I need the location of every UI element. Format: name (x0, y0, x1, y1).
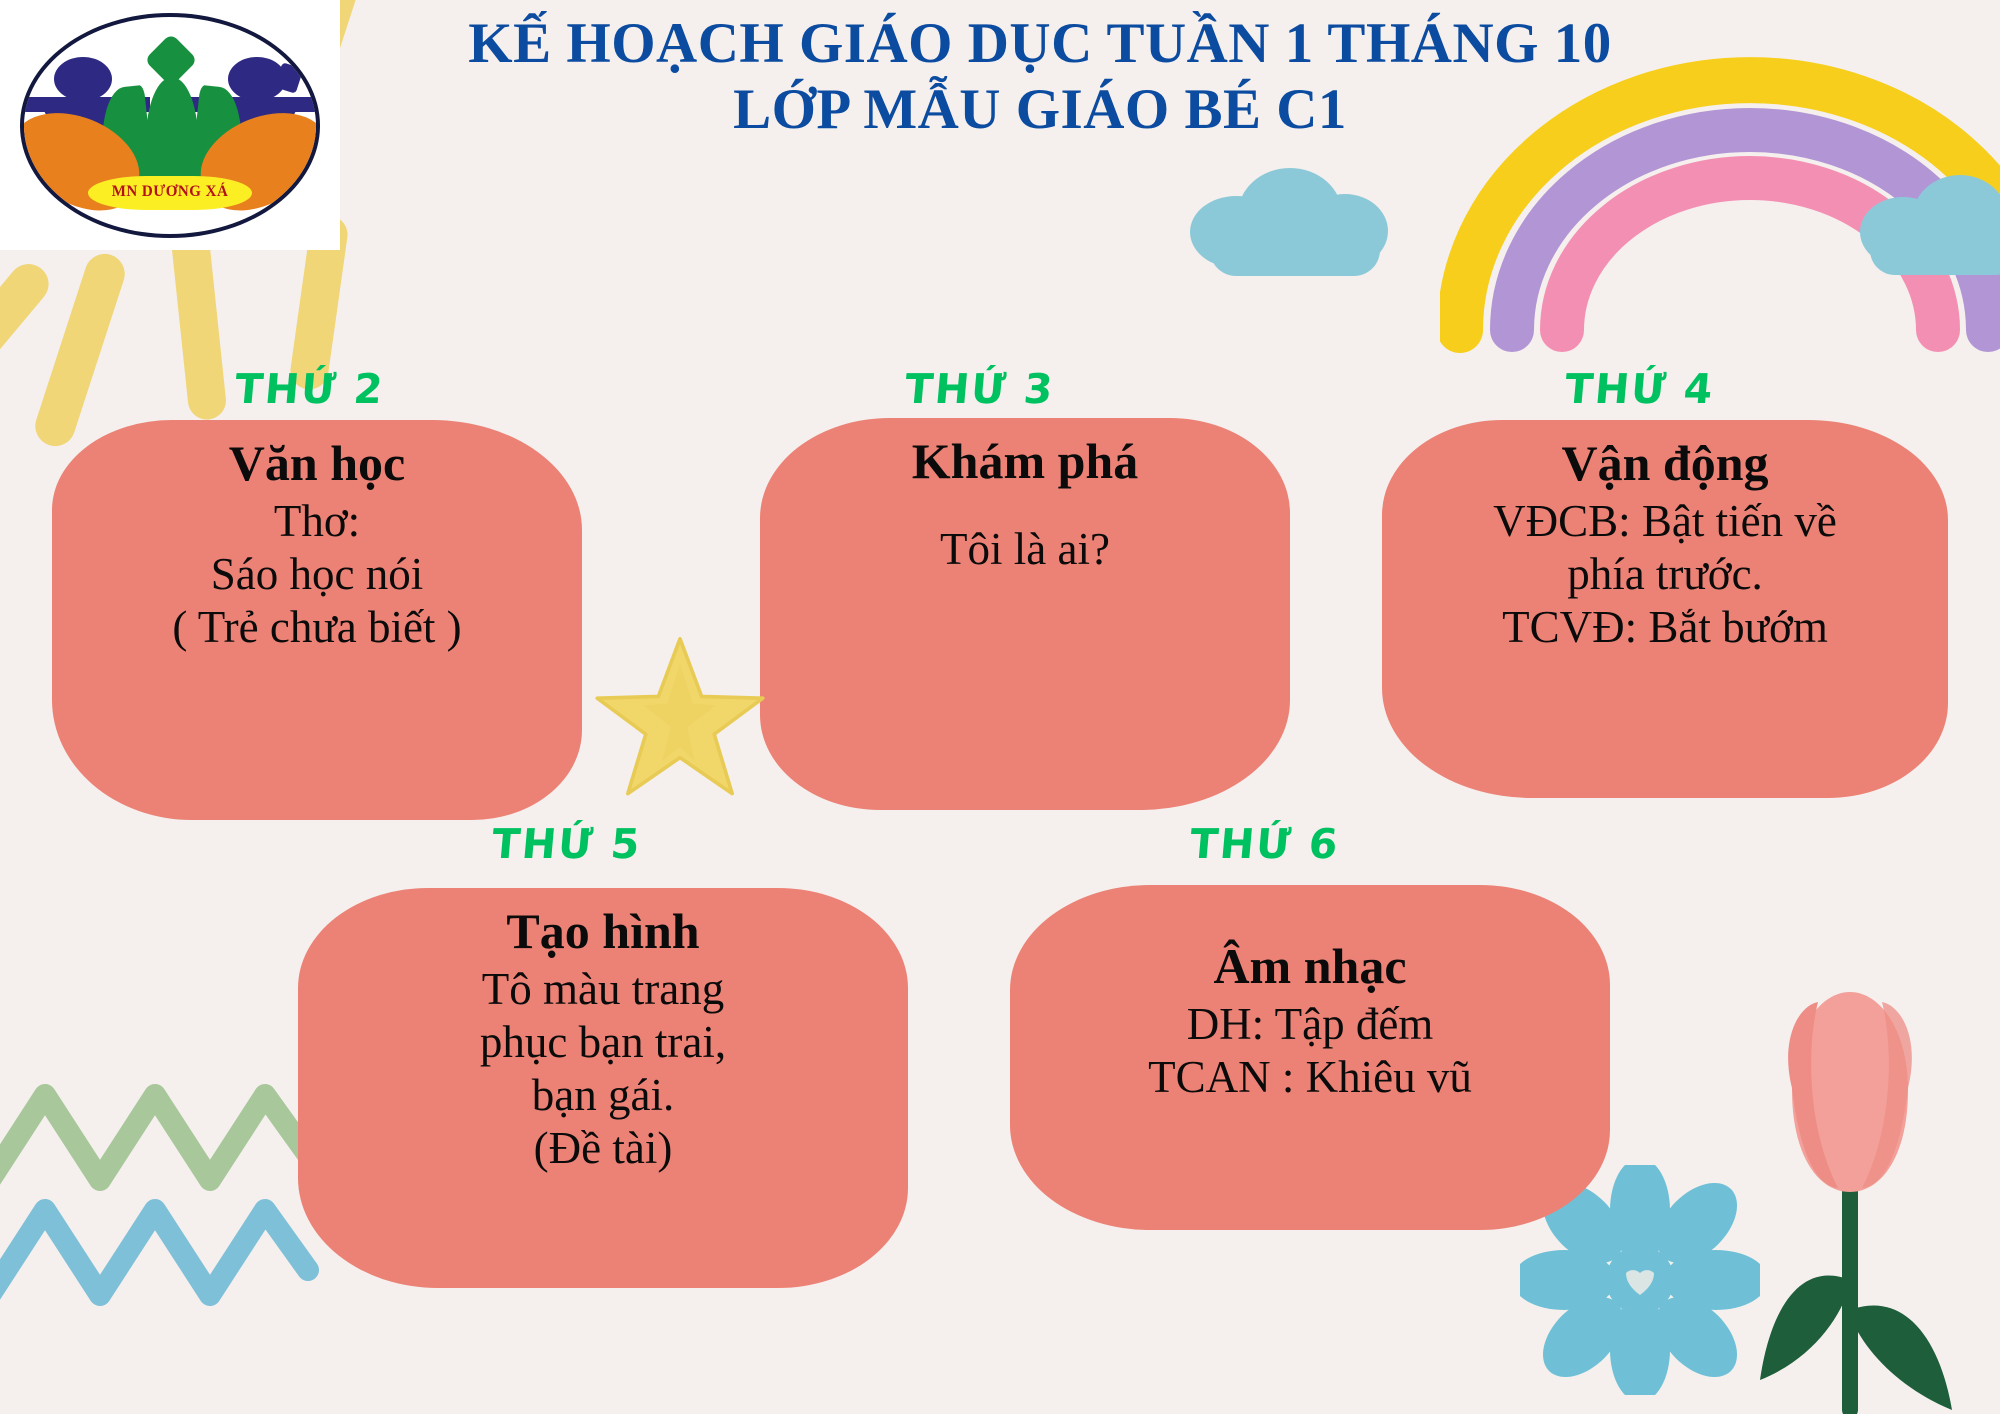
card-subject-thu-5: Tạo hình (506, 902, 699, 961)
card-line: phía trước. (1567, 548, 1763, 601)
star-decoration (590, 628, 770, 813)
card-thu-6[interactable]: Âm nhạc DH: Tập đếm TCAN : Khiêu vũ (1010, 885, 1610, 1230)
card-thu-3[interactable]: Khám phá Tôi là ai? (760, 418, 1290, 810)
card-thu-5[interactable]: Tạo hình Tô màu trang phục bạn trai, bạn… (298, 888, 908, 1288)
zigzag-blue-decoration (0, 1190, 320, 1335)
page-title-line-1: KẾ HOẠCH GIÁO DỤC TUẦN 1 THÁNG 10 (300, 14, 1780, 74)
star-icon (590, 628, 770, 808)
tulip-icon (1700, 980, 2000, 1414)
logo-leaf-tip (144, 33, 198, 87)
card-line: bạn gái. (532, 1069, 674, 1122)
logo-child-left-head (54, 57, 112, 101)
day-label-thu-2: THỨ 2 (233, 365, 387, 413)
card-thu-2[interactable]: Văn học Thơ: Sáo học nói ( Trẻ chưa biết… (52, 420, 582, 820)
day-label-text: THỨ 2 (233, 365, 387, 413)
logo-ribbon-text: MN DƯƠNG XÁ (112, 184, 229, 202)
card-line: Thơ: (274, 495, 360, 548)
card-line: Tô màu trang (482, 963, 724, 1016)
card-line: ( Trẻ chưa biết ) (172, 601, 461, 654)
card-line: Sáo học nói (211, 548, 423, 601)
day-label-thu-4: THỨ 4 (1563, 365, 1717, 413)
zigzag-icon (0, 1080, 320, 1210)
card-subject-thu-6: Âm nhạc (1213, 937, 1406, 996)
card-line: DH: Tập đếm (1187, 998, 1434, 1051)
card-subject-thu-2: Văn học (229, 434, 405, 493)
logo-ribbon: MN DƯƠNG XÁ (88, 176, 252, 210)
day-label-thu-3: THỨ 3 (903, 365, 1057, 413)
page-title-line-2: LỚP MẪU GIÁO BÉ C1 (300, 74, 1780, 145)
logo-oval-badge: MN DƯƠNG XÁ (20, 13, 320, 238)
card-line: Tôi là ai? (940, 523, 1110, 576)
card-line: TCVĐ: Bắt bướm (1502, 601, 1828, 654)
card-line: VĐCB: Bật tiến về (1493, 495, 1837, 548)
day-label-thu-5: THỨ 5 (490, 820, 644, 868)
tulip-decoration (1700, 980, 2000, 1414)
day-label-text: THỨ 3 (903, 365, 1057, 413)
card-subject-thu-4: Vận động (1561, 434, 1768, 493)
day-label-text: THỨ 6 (1188, 820, 1342, 868)
zigzag-icon (0, 1190, 320, 1330)
card-line: phục bạn trai, (480, 1016, 726, 1069)
school-logo: MN DƯƠNG XÁ (0, 0, 340, 250)
day-label-thu-6: THỨ 6 (1188, 820, 1342, 868)
poster-canvas: MN DƯƠNG XÁ THỨ 2 Văn học Thơ: Sáo học n… (0, 0, 2000, 1414)
card-line: TCAN : Khiêu vũ (1148, 1051, 1472, 1104)
card-thu-4[interactable]: Vận động VĐCB: Bật tiến về phía trước. T… (1382, 420, 1948, 798)
day-label-text: THỨ 4 (1563, 365, 1717, 413)
card-subject-thu-3: Khám phá (912, 432, 1138, 491)
day-label-text: THỨ 5 (490, 820, 644, 868)
card-line: (Đề tài) (534, 1122, 673, 1175)
page-title: KẾ HOẠCH GIÁO DỤC TUẦN 1 THÁNG 10 LỚP MẪ… (300, 14, 1780, 145)
zigzag-green-decoration (0, 1080, 320, 1215)
